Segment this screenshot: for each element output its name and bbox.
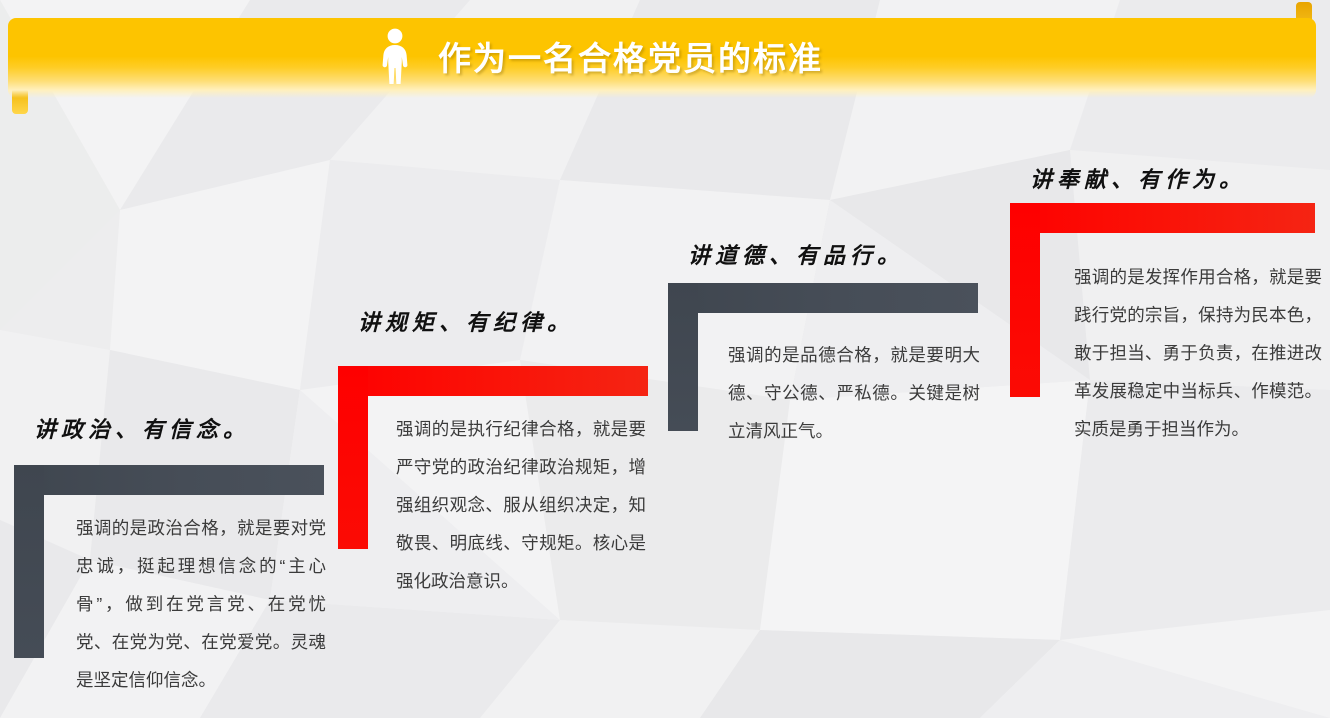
banner-bar: 作为一名合格党员的标准	[8, 18, 1316, 98]
bracket-top-arm	[14, 465, 324, 495]
header-banner: 作为一名合格党员的标准	[8, 18, 1316, 98]
banner-title: 作为一名合格党员的标准	[438, 32, 823, 80]
bracket-side-arm	[1010, 203, 1040, 397]
step-body-1: 强调的是政治合格，就是要对党忠诚，挺起理想信念的“主心骨”，做到在党言党、在党忧…	[76, 509, 326, 699]
step-heading-2: 讲规矩、有纪律。	[358, 305, 574, 337]
step-heading-3: 讲道德、有品行。	[688, 238, 904, 270]
step-body-4: 强调的是发挥作用合格，就是要践行党的宗旨，保持为民本色，敢于担当、勇于负责，在推…	[1074, 258, 1322, 448]
person-standing-icon	[378, 28, 412, 84]
bracket-side-arm	[668, 283, 698, 431]
bracket-side-arm	[14, 465, 44, 658]
step-heading-1: 讲政治、有信念。	[34, 412, 250, 444]
step-body-3: 强调的是品德合格，就是要明大德、守公德、严私德。关键是树立清风正气。	[728, 336, 980, 450]
slide-canvas: 作为一名合格党员的标准 讲政治、有信念。 强调的是政治合格，就是要对党忠诚，挺起…	[0, 0, 1330, 718]
bracket-top-arm	[668, 283, 978, 313]
step-body-2: 强调的是执行纪律合格，就是要严守党的政治纪律政治规矩，增强组织观念、服从组织决定…	[396, 410, 646, 600]
bracket-side-arm	[338, 366, 368, 549]
bracket-top-arm	[1010, 203, 1315, 233]
step-heading-4: 讲奉献、有作为。	[1030, 162, 1246, 194]
bracket-top-arm	[338, 366, 648, 396]
